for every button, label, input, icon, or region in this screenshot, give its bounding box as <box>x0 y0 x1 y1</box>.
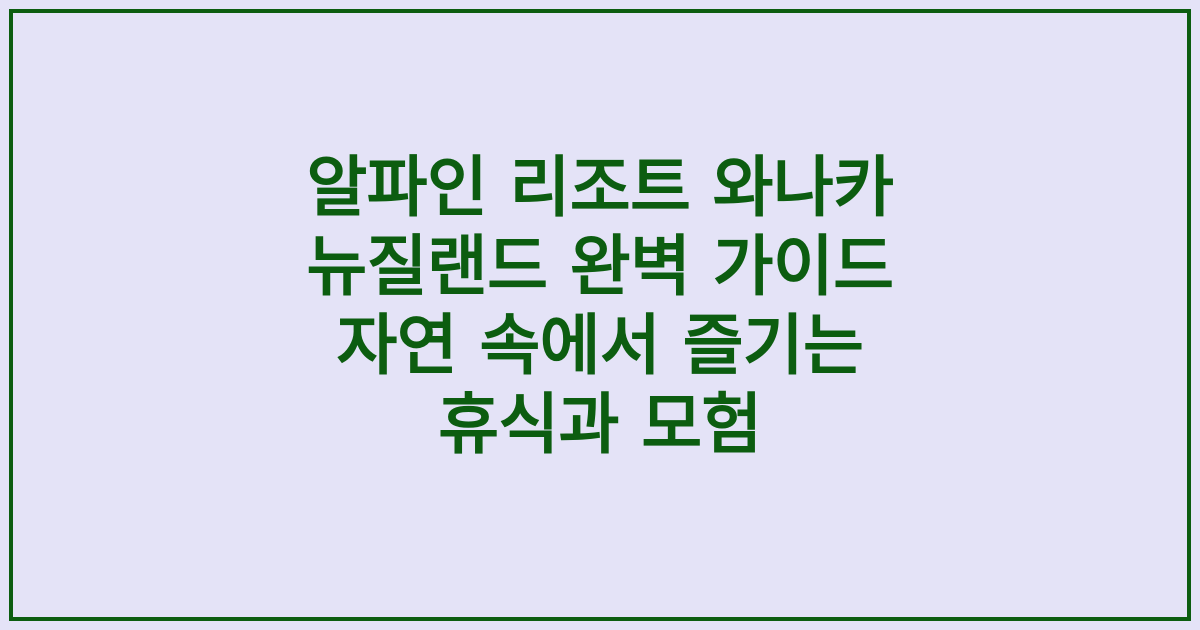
headline-line-1: 알파인 리조트 와나카 <box>90 148 1110 227</box>
headline-block: 알파인 리조트 와나카 뉴질랜드 완벽 가이드 자연 속에서 즐기는 휴식과 모… <box>90 148 1110 464</box>
social-card: 알파인 리조트 와나카 뉴질랜드 완벽 가이드 자연 속에서 즐기는 휴식과 모… <box>0 0 1200 630</box>
page-title: 알파인 리조트 와나카 뉴질랜드 완벽 가이드 자연 속에서 즐기는 휴식과 모… <box>90 148 1110 464</box>
headline-line-3: 자연 속에서 즐기는 <box>90 306 1110 385</box>
headline-line-2: 뉴질랜드 완벽 가이드 <box>90 227 1110 306</box>
headline-line-4: 휴식과 모험 <box>90 385 1110 464</box>
